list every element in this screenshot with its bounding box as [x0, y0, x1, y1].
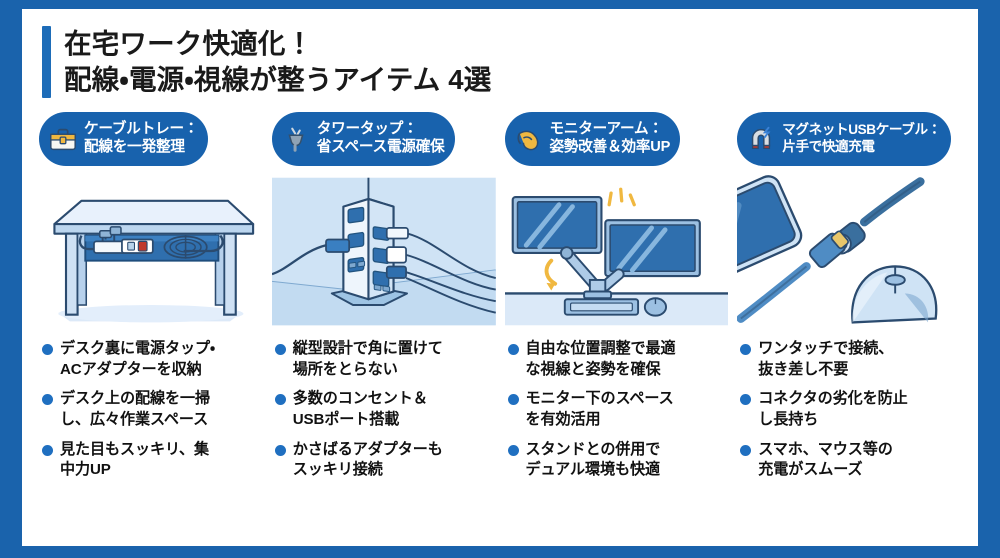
columns-container: ケーブルトレー： 配線を一発整理	[22, 112, 978, 481]
bullet-text: 自由な位置調整で最適 な視線と姿勢を確保	[526, 339, 676, 380]
bullet-list-cable-tray: デスク裏に電源タップ・ ACアダプターを収納 デスク上の配線を一掃 し、広々作業…	[39, 339, 263, 481]
bullet-list-monitor-arm: 自由な位置調整で最適 な視線と姿勢を確保 モニター下のスペース を有効活用 スタ…	[505, 339, 729, 481]
list-item: スマホ、マウス等の 充電がスムーズ	[740, 440, 961, 481]
bullet-text: 縦型設計で角に置けて 場所をとらない	[293, 339, 443, 380]
bullet-dot-icon	[508, 445, 519, 456]
bullet-dot-icon	[275, 445, 286, 456]
column-magnet-usb-cable: マグネットUSBケーブル： 片手で快適充電	[737, 112, 961, 481]
toolbox-icon	[48, 124, 78, 154]
bullet-dot-icon	[740, 445, 751, 456]
power-plug-icon	[281, 124, 311, 154]
dual-monitor-arm-illustration	[505, 175, 729, 328]
list-item: デスク上の配線を一掃 し、広々作業スペース	[42, 389, 263, 430]
bullet-list-tower-tap: 縦型設計で角に置けて 場所をとらない 多数のコンセント＆ USBポート搭載 かさ…	[272, 339, 496, 481]
list-item: 多数のコンセント＆ USBポート搭載	[275, 389, 496, 430]
tower-power-strip-illustration	[272, 175, 496, 328]
column-header-label: タワータップ： 省スペース電源確保	[317, 121, 445, 157]
bullet-text: 見た目もスッキリ、集 中力UP	[60, 440, 209, 481]
magnetic-usb-cable-illustration	[737, 175, 961, 328]
bullet-text: モニター下のスペース を有効活用	[526, 389, 674, 430]
bullet-text: デスク裏に電源タップ・ ACアダプターを収納	[60, 339, 215, 380]
column-header-monitor-arm: モニターアーム： 姿勢改善＆効率UP	[505, 112, 681, 166]
bullet-text: コネクタの劣化を防止 し長持ち	[758, 389, 907, 430]
bullet-text: デスク上の配線を一掃 し、広々作業スペース	[60, 389, 210, 430]
column-tower-tap: タワータップ： 省スペース電源確保	[272, 112, 496, 481]
bullet-list-magnet-usb-cable: ワンタッチで接続、 抜き差し不要 コネクタの劣化を防止 し長持ち スマホ、マウス…	[737, 339, 961, 481]
bullet-text: かさばるアダプターも スッキリ接続	[293, 440, 443, 481]
bullet-text: スタンドとの併用で デュアル環境も快適	[526, 440, 661, 481]
page-title: 在宅ワーク快適化！ 配線・電源・視線が整うアイテム 4選	[22, 26, 978, 98]
list-item: かさばるアダプターも スッキリ接続	[275, 440, 496, 481]
list-item: デスク裏に電源タップ・ ACアダプターを収納	[42, 339, 263, 380]
title-accent-bar	[42, 26, 51, 98]
bullet-dot-icon	[508, 344, 519, 355]
bullet-dot-icon	[275, 344, 286, 355]
magnet-icon	[746, 124, 776, 154]
bullet-dot-icon	[508, 394, 519, 405]
list-item: モニター下のスペース を有効活用	[508, 389, 729, 430]
bullet-text: スマホ、マウス等の 充電がスムーズ	[758, 440, 893, 481]
bullet-dot-icon	[740, 394, 751, 405]
flexed-biceps-icon	[514, 124, 544, 154]
bullet-text: 多数のコンセント＆ USBポート搭載	[293, 389, 428, 430]
column-header-cable-tray: ケーブルトレー： 配線を一発整理	[39, 112, 208, 166]
column-header-label: モニターアーム： 姿勢改善＆効率UP	[550, 121, 671, 157]
list-item: ワンタッチで接続、 抜き差し不要	[740, 339, 961, 380]
column-header-tower-tap: タワータップ： 省スペース電源確保	[272, 112, 455, 166]
column-cable-tray: ケーブルトレー： 配線を一発整理	[39, 112, 263, 481]
column-monitor-arm: モニターアーム： 姿勢改善＆効率UP	[505, 112, 729, 481]
bullet-dot-icon	[42, 394, 53, 405]
desk-with-cable-tray-illustration	[39, 175, 263, 328]
list-item: 自由な位置調整で最適 な視線と姿勢を確保	[508, 339, 729, 380]
title-text: 在宅ワーク快適化！ 配線・電源・視線が整うアイテム 4選	[64, 26, 491, 98]
list-item: スタンドとの併用で デュアル環境も快適	[508, 440, 729, 481]
infographic-frame: 在宅ワーク快適化！ 配線・電源・視線が整うアイテム 4選 ケーブルトレー： 配線…	[0, 0, 1000, 558]
column-header-label: ケーブルトレー： 配線を一発整理	[84, 121, 198, 157]
bullet-dot-icon	[740, 344, 751, 355]
list-item: 見た目もスッキリ、集 中力UP	[42, 440, 263, 481]
column-header-magnet-usb-cable: マグネットUSBケーブル： 片手で快適充電	[737, 112, 951, 166]
column-header-label: マグネットUSBケーブル： 片手で快適充電	[782, 122, 941, 155]
list-item: コネクタの劣化を防止 し長持ち	[740, 389, 961, 430]
infographic-sheet: 在宅ワーク快適化！ 配線・電源・視線が整うアイテム 4選 ケーブルトレー： 配線…	[22, 9, 978, 546]
bullet-dot-icon	[42, 344, 53, 355]
bullet-text: ワンタッチで接続、 抜き差し不要	[758, 339, 893, 380]
bullet-dot-icon	[275, 394, 286, 405]
bullet-dot-icon	[42, 445, 53, 456]
list-item: 縦型設計で角に置けて 場所をとらない	[275, 339, 496, 380]
